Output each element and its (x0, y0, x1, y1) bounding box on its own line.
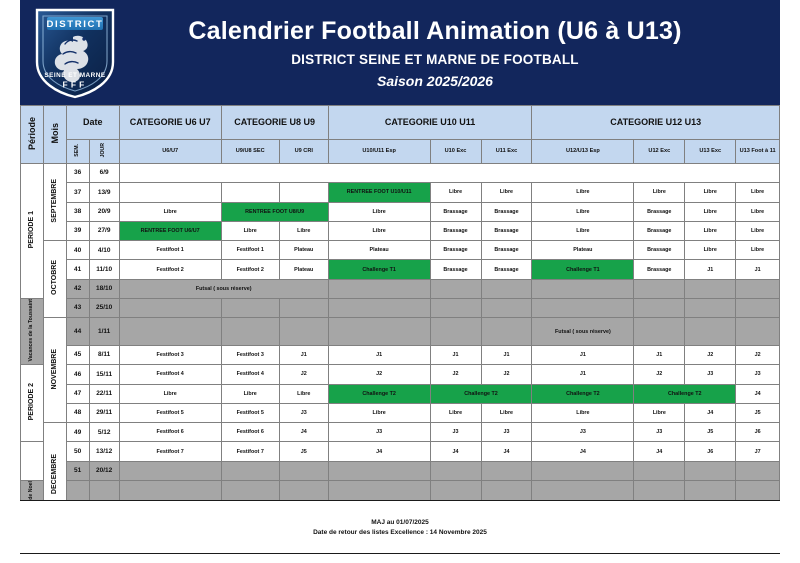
schedule-cell: Libre (328, 221, 430, 240)
date-cell: 5/12 (89, 423, 119, 442)
schedule-cell: J2 (634, 365, 685, 384)
schedule-cell: Plateau (279, 241, 328, 260)
period-label-cell (21, 442, 44, 481)
schedule-cell: J7 (736, 442, 780, 461)
schedule-cell: Festifoot 2 (221, 260, 279, 279)
svg-text:SEINE ET MARNE: SEINE ET MARNE (44, 72, 106, 79)
table-row: 4722/11LibreLibreLibreChallenge T2Challe… (21, 384, 780, 403)
table-row: DECEMBRE495/12Festifoot 6Festifoot 6J4J3… (21, 423, 780, 442)
event-cell: RENTREE FOOT U10/U11 (328, 183, 430, 202)
period-label-cell: PERIODE 1 (21, 164, 44, 299)
date-cell: 20/9 (89, 202, 119, 221)
vacation-cell: Futsal ( sous réserve) (532, 318, 634, 346)
schedule-cell: Libre (279, 221, 328, 240)
period-label-cell: PERIODE 2 (21, 365, 44, 442)
month-label-cell: SEPTEMBRE (43, 164, 66, 241)
vacation-cell (328, 279, 430, 298)
schedule-cell: J4 (685, 403, 736, 422)
schedule-cell: Libre (736, 183, 780, 202)
schedule-cell: Brassage (634, 260, 685, 279)
date-cell: 1/11 (89, 318, 119, 346)
footer-return-date-line: Date de retour des listes Excellence : 1… (313, 529, 487, 536)
header-col-u10u11esp: U10/U11 Esp (328, 140, 430, 164)
week-number-cell: 50 (66, 442, 89, 461)
schedule-cell: J3 (430, 423, 481, 442)
svg-text:FFF: FFF (63, 79, 88, 89)
vacation-cell (532, 461, 634, 480)
week-number-cell: 43 (66, 299, 89, 318)
month-label-cell: OCTOBRE (43, 241, 66, 318)
footer-update-line: MAJ au 01/07/2025 (371, 519, 428, 526)
header-group-u12u13: CATEGORIE U12 U13 (532, 106, 780, 140)
schedule-cell: J1 (634, 346, 685, 365)
vacation-cell (685, 299, 736, 318)
schedule-cell: J1 (532, 346, 634, 365)
vacation-cell (481, 279, 532, 298)
schedule-cell: J6 (685, 442, 736, 461)
table-row: PERIODE 24615/11Festifoot 4Festifoot 4J2… (21, 365, 780, 384)
week-number-cell: 38 (66, 202, 89, 221)
header-group-u8u9: CATEGORIE U8 U9 (221, 106, 328, 140)
vacation-cell (532, 279, 634, 298)
table-row: 3713/9RENTREE FOOT U10/U11LibreLibreLibr… (21, 183, 780, 202)
table-row: Vacances de la Toussaint4325/10 (21, 299, 780, 318)
schedule-cell: Libre (481, 183, 532, 202)
schedule-cell: J1 (279, 346, 328, 365)
date-cell: 29/11 (89, 403, 119, 422)
schedule-cell: Festifoot 4 (119, 365, 221, 384)
schedule-cell: Libre (634, 403, 685, 422)
schedule-cell: Festifoot 1 (119, 241, 221, 260)
schedule-cell: J6 (736, 423, 780, 442)
district-logo: DISTRICT SEINE ET MARNE FFF (20, 3, 130, 103)
calendar-page: DISTRICT SEINE ET MARNE FFF Calendrier F… (0, 0, 800, 563)
schedule-cell: Brassage (634, 221, 685, 240)
date-cell: 13/9 (89, 183, 119, 202)
schedule-cell: J1 (328, 346, 430, 365)
header-col-u12exc: U12 Exc (634, 140, 685, 164)
week-number-cell: 49 (66, 423, 89, 442)
week-number-cell: 41 (66, 260, 89, 279)
vacation-cell (481, 299, 532, 318)
table-row: 458/11Festifoot 3Festifoot 3J1J1J1J1J1J1… (21, 346, 780, 365)
date-cell: 25/10 (89, 299, 119, 318)
schedule-cell: Brassage (430, 260, 481, 279)
schedule-cell: Brassage (481, 202, 532, 221)
schedule-cell (119, 164, 779, 183)
schedule-cell: Festifoot 6 (119, 423, 221, 442)
header-mois: Mois (43, 106, 66, 164)
schedule-cell: J2 (279, 365, 328, 384)
schedule-cell: J4 (328, 442, 430, 461)
vacation-cell (328, 299, 430, 318)
header-periode: Période (21, 106, 44, 164)
schedule-cell: Brassage (481, 241, 532, 260)
date-cell: 22/11 (89, 384, 119, 403)
schedule-cell: J5 (685, 423, 736, 442)
schedule-cell: J4 (279, 423, 328, 442)
schedule-cell: Libre (685, 183, 736, 202)
schedule-cell: J4 (481, 442, 532, 461)
schedule-cell: Libre (532, 221, 634, 240)
schedule-cell: Libre (634, 183, 685, 202)
header-date: Date (66, 106, 119, 140)
schedule-cell: J1 (736, 260, 780, 279)
week-number-cell: 47 (66, 384, 89, 403)
table-head: Période Mois Date CATEGORIE U6 U7 CATEGO… (21, 106, 780, 164)
vacation-cell (430, 279, 481, 298)
schedule-cell: J3 (279, 403, 328, 422)
schedule-cell: Libre (481, 403, 532, 422)
schedule-cell (119, 183, 221, 202)
schedule-cell: Libre (119, 202, 221, 221)
header-jour: JOUR (89, 140, 119, 164)
schedule-cell: J4 (430, 442, 481, 461)
table-row: 4829/11Festifoot 5Festifoot 5J3LibreLibr… (21, 403, 780, 422)
header-sem: SEM. (66, 140, 89, 164)
vacation-cell (685, 318, 736, 346)
schedule-cell: Libre (279, 384, 328, 403)
schedule-cell: Festifoot 4 (221, 365, 279, 384)
week-number-cell: 42 (66, 279, 89, 298)
table-body: PERIODE 1SEPTEMBRE366/93713/9RENTREE FOO… (21, 164, 780, 529)
district-seine-et-marne-crest-icon: DISTRICT SEINE ET MARNE FFF (32, 6, 118, 100)
schedule-cell: Festifoot 7 (119, 442, 221, 461)
schedule-cell: Brassage (430, 202, 481, 221)
vacation-cell (119, 318, 221, 346)
event-cell: Challenge T2 (532, 384, 634, 403)
schedule-cell: Brassage (481, 260, 532, 279)
event-cell: RENTREE FOOT U6/U7 (119, 221, 221, 240)
schedule-cell: Brassage (430, 241, 481, 260)
table-row: OCTOBRE404/10Festifoot 1Festifoot 1Plate… (21, 241, 780, 260)
week-number-cell: 51 (66, 461, 89, 480)
schedule-cell: Libre (221, 384, 279, 403)
page-subtitle: DISTRICT SEINE ET MARNE DE FOOTBALL (130, 52, 740, 67)
header-col-u6u7: U6/U7 (119, 140, 221, 164)
date-cell: 11/10 (89, 260, 119, 279)
schedule-cell: Libre (532, 202, 634, 221)
vacation-cell (279, 318, 328, 346)
svg-text:DISTRICT: DISTRICT (46, 19, 103, 30)
vacation-cell (279, 299, 328, 318)
schedule-cell: Libre (532, 183, 634, 202)
schedule-cell: Brassage (634, 241, 685, 260)
schedule-cell: Libre (736, 202, 780, 221)
schedule-cell (221, 183, 279, 202)
vacation-cell (119, 461, 221, 480)
date-cell: 13/12 (89, 442, 119, 461)
title-block: Calendrier Football Animation (U6 à U13)… (130, 17, 780, 89)
schedule-cell: Festifoot 2 (119, 260, 221, 279)
vacation-cell (481, 461, 532, 480)
schedule-cell: J3 (328, 423, 430, 442)
date-cell: 18/10 (89, 279, 119, 298)
table-row: 3820/9LibreRENTREE FOOT U8/U9LibreBrassa… (21, 202, 780, 221)
schedule-cell: J4 (634, 442, 685, 461)
schedule-cell: Festifoot 5 (119, 403, 221, 422)
month-label-cell: NOVEMBRE (43, 318, 66, 423)
schedule-cell: Brassage (430, 221, 481, 240)
schedule-cell: J3 (736, 365, 780, 384)
schedule-cell: Festifoot 3 (221, 346, 279, 365)
vacation-cell (430, 299, 481, 318)
vacation-cell (685, 279, 736, 298)
schedule-cell: Libre (328, 202, 430, 221)
event-cell: Challenge T2 (328, 384, 430, 403)
vacation-cell (736, 279, 780, 298)
header-col-u10exc: U10 Exc (430, 140, 481, 164)
vacation-cell (736, 299, 780, 318)
schedule-cell: Libre (736, 241, 780, 260)
schedule-cell: Plateau (279, 260, 328, 279)
schedule-cell: J2 (736, 346, 780, 365)
schedule-cell: J3 (634, 423, 685, 442)
schedule-cell: Plateau (328, 241, 430, 260)
vacation-cell (430, 318, 481, 346)
calendar-table-wrapper: Période Mois Date CATEGORIE U6 U7 CATEGO… (20, 105, 780, 529)
schedule-cell: Libre (119, 384, 221, 403)
header-group-u10u11: CATEGORIE U10 U11 (328, 106, 532, 140)
month-label: OCTOBRE (51, 260, 59, 295)
table-row: 4218/10Futsal ( sous réserve) (21, 279, 780, 298)
week-number-cell: 45 (66, 346, 89, 365)
vacation-cell (634, 299, 685, 318)
vacation-cell (685, 461, 736, 480)
date-cell: 4/10 (89, 241, 119, 260)
schedule-cell: Libre (685, 241, 736, 260)
page-title: Calendrier Football Animation (U6 à U13) (130, 17, 740, 45)
vacation-cell (430, 461, 481, 480)
week-number-cell: 40 (66, 241, 89, 260)
vacation-cell (736, 461, 780, 480)
header-col-u12u13esp: U12/U13 Esp (532, 140, 634, 164)
event-cell: RENTREE FOOT U8/U9 (221, 202, 328, 221)
schedule-cell: J4 (532, 442, 634, 461)
schedule-cell: Festifoot 5 (221, 403, 279, 422)
vacation-cell (221, 318, 279, 346)
vacation-cell (634, 279, 685, 298)
schedule-cell: Plateau (532, 241, 634, 260)
table-row: 3927/9RENTREE FOOT U6/U7LibreLibreLibreB… (21, 221, 780, 240)
date-cell: 15/11 (89, 365, 119, 384)
season-label: Saison 2025/2026 (130, 73, 740, 89)
period-label-cell: Vacances de la Toussaint (21, 299, 44, 365)
schedule-cell: J1 (430, 346, 481, 365)
vacation-cell (279, 461, 328, 480)
vacation-cell (328, 318, 430, 346)
page-header: DISTRICT SEINE ET MARNE FFF Calendrier F… (20, 0, 780, 105)
schedule-cell: Libre (430, 183, 481, 202)
schedule-cell: Libre (328, 403, 430, 422)
schedule-cell: Brassage (634, 202, 685, 221)
date-cell: 8/11 (89, 346, 119, 365)
event-cell: Challenge T2 (634, 384, 736, 403)
schedule-cell: J3 (532, 423, 634, 442)
vacation-cell (634, 461, 685, 480)
header-col-u9cri: U9 CRI (279, 140, 328, 164)
month-label: DECEMBRE (51, 454, 59, 494)
period-label: Vacances de la Toussaint (29, 299, 35, 361)
schedule-cell: J1 (481, 346, 532, 365)
vacation-cell (736, 318, 780, 346)
schedule-cell: J4 (736, 384, 780, 403)
vacation-cell (221, 299, 279, 318)
header-row-subcols: SEM. JOUR U6/U7 U9/U8 SEC U9 CRI U10/U11… (21, 140, 780, 164)
vacation-cell (328, 461, 430, 480)
table-row: 4111/10Festifoot 2Festifoot 2PlateauChal… (21, 260, 780, 279)
vacation-cell (634, 318, 685, 346)
schedule-cell: Brassage (481, 221, 532, 240)
header-group-u6u7: CATEGORIE U6 U7 (119, 106, 221, 140)
schedule-cell: J2 (685, 346, 736, 365)
schedule-cell: J1 (685, 260, 736, 279)
event-cell: Challenge T2 (430, 384, 532, 403)
schedule-cell: Libre (221, 221, 279, 240)
table-row: PERIODE 1SEPTEMBRE366/9 (21, 164, 780, 183)
event-cell: Challenge T1 (328, 260, 430, 279)
schedule-cell: Libre (685, 221, 736, 240)
schedule-cell: J2 (481, 365, 532, 384)
schedule-cell: J5 (279, 442, 328, 461)
schedule-cell: Libre (685, 202, 736, 221)
vacation-cell (221, 461, 279, 480)
footer-notes: MAJ au 01/07/2025 Date de retour des lis… (20, 500, 780, 554)
schedule-cell: Festifoot 3 (119, 346, 221, 365)
event-cell: Challenge T1 (532, 260, 634, 279)
schedule-cell: J2 (328, 365, 430, 384)
week-number-cell: 44 (66, 318, 89, 346)
vacation-cell (532, 299, 634, 318)
period-label: PERIODE 2 (28, 383, 36, 420)
week-number-cell: 46 (66, 365, 89, 384)
schedule-cell: J2 (430, 365, 481, 384)
vacation-cell (481, 318, 532, 346)
header-col-u13exc: U13 Exc (685, 140, 736, 164)
schedule-cell: Festifoot 7 (221, 442, 279, 461)
schedule-cell: J5 (736, 403, 780, 422)
period-label: PERIODE 1 (28, 211, 36, 248)
header-row-groups: Période Mois Date CATEGORIE U6 U7 CATEGO… (21, 106, 780, 140)
schedule-cell: Festifoot 6 (221, 423, 279, 442)
calendar-table: Période Mois Date CATEGORIE U6 U7 CATEGO… (20, 105, 780, 529)
schedule-cell: J3 (481, 423, 532, 442)
week-number-cell: 39 (66, 221, 89, 240)
header-col-u11exc: U11 Exc (481, 140, 532, 164)
header-col-u9u8sec: U9/U8 SEC (221, 140, 279, 164)
vacation-cell: Futsal ( sous réserve) (119, 279, 328, 298)
schedule-cell: J3 (685, 365, 736, 384)
week-number-cell: 36 (66, 164, 89, 183)
schedule-cell (279, 183, 328, 202)
table-row: NOVEMBRE441/11Futsal ( sous réserve) (21, 318, 780, 346)
schedule-cell: J1 (532, 365, 634, 384)
schedule-cell: Libre (430, 403, 481, 422)
vacation-cell (119, 299, 221, 318)
schedule-cell: Libre (532, 403, 634, 422)
date-cell: 20/12 (89, 461, 119, 480)
header-col-u13foot11: U13 Foot à 11 (736, 140, 780, 164)
week-number-cell: 48 (66, 403, 89, 422)
date-cell: 6/9 (89, 164, 119, 183)
month-label: NOVEMBRE (51, 349, 59, 389)
week-number-cell: 37 (66, 183, 89, 202)
table-row: 5120/12 (21, 461, 780, 480)
table-row: 5013/12Festifoot 7Festifoot 7J5J4J4J4J4J… (21, 442, 780, 461)
schedule-cell: Festifoot 1 (221, 241, 279, 260)
month-label: SEPTEMBRE (51, 179, 59, 223)
date-cell: 27/9 (89, 221, 119, 240)
schedule-cell: Libre (736, 221, 780, 240)
